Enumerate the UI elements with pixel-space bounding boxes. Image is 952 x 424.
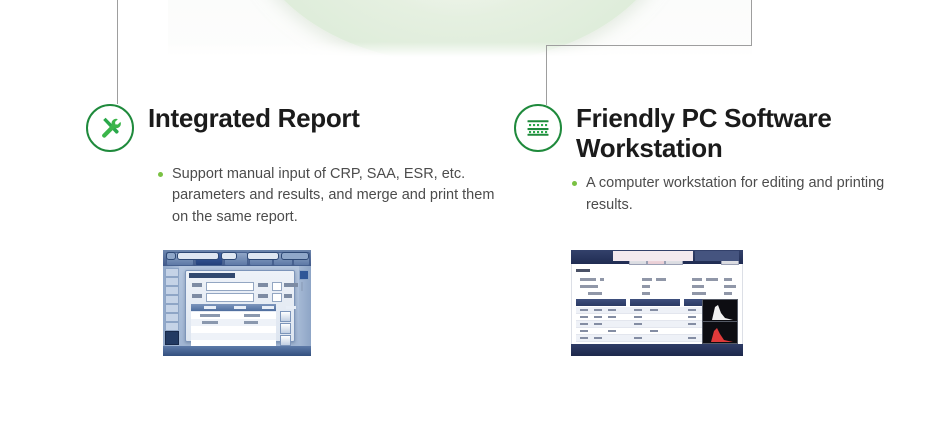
feature-bullet-list: Support manual input of CRP, SAA, ESR, e… [158,164,503,228]
list-item: A computer workstation for editing and p… [572,173,902,216]
screenshot-status-bar [571,344,743,356]
screenshot-help-button [299,270,309,280]
hero-image-crop [168,0,752,58]
page-title-integrated-report: Integrated Report [148,100,360,133]
connector-right-vertical-outer [751,0,752,46]
keyboard-icon [514,104,562,152]
screenshot-report-body [574,266,740,342]
connector-right-vertical [546,45,547,105]
connector-left-vertical [117,0,118,104]
feature-bullet-list: A computer workstation for editing and p… [572,173,902,216]
histogram-chart-wbc [702,299,738,322]
screenshot-status-bar [163,346,311,356]
feature-header: Friendly PC Software Workstation [514,100,934,163]
page-title-pc-software: Friendly PC Software Workstation [576,100,934,163]
integrated-report-screenshot [163,250,311,356]
feature-block-integrated-report: Integrated Report Support manual input o… [86,100,506,228]
tools-icon [86,104,134,152]
feature-header: Integrated Report [86,100,506,152]
list-item: Support manual input of CRP, SAA, ESR, e… [158,164,503,228]
feature-block-pc-software: Friendly PC Software Workstation A compu… [514,100,934,216]
connector-right-horizontal [546,45,752,46]
screenshot-dialog [185,270,295,342]
histogram-chart-rbc [702,321,738,344]
pc-software-screenshot [571,250,743,356]
